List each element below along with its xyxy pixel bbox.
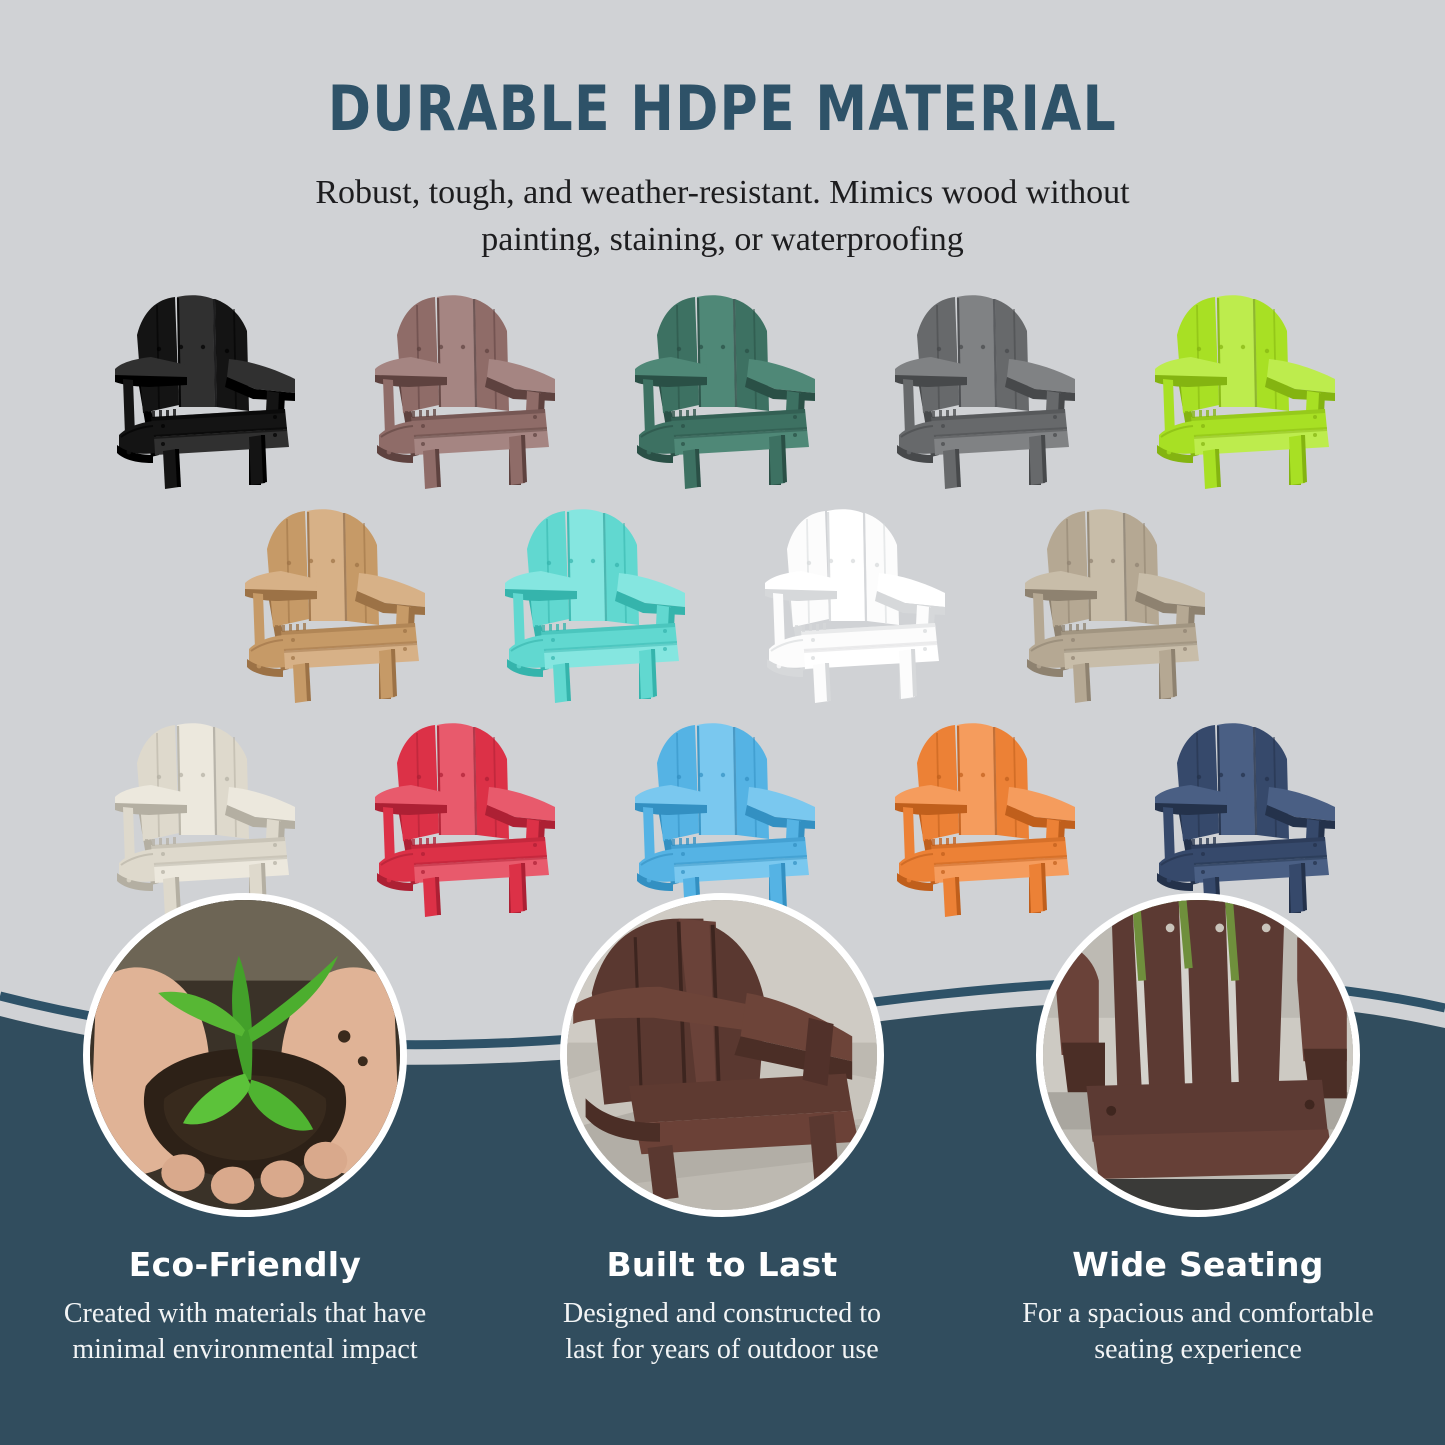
chair-swatch-red[interactable] (345, 696, 580, 918)
chair-illustration-dark-green (619, 285, 827, 490)
feature-section: Eco-Friendly Created with materials that… (0, 893, 1445, 1445)
photo-brown-chair-patio (567, 900, 877, 1210)
chair-row-1 (0, 268, 1445, 490)
chair-illustration-teak (229, 499, 437, 704)
chair-illustration-weathered-wood (1009, 499, 1217, 704)
feature-desc-line-2: minimal environmental impact (72, 1334, 417, 1365)
feature-image-wide-seating (1036, 893, 1360, 1217)
feature-description-wide-seating: For a spacious and comfortable seating e… (978, 1296, 1418, 1369)
chair-swatch-weathered-wood[interactable] (995, 482, 1230, 704)
chair-swatch-black[interactable] (85, 268, 320, 490)
page-subtitle: Robust, tough, and weather-resistant. Mi… (223, 140, 1223, 264)
feature-desc-line-1: Created with materials that have (64, 1298, 426, 1329)
chair-row-2 (0, 482, 1445, 704)
feature-image-eco-friendly (83, 893, 407, 1217)
infographic-canvas: DURABLE HDPE MATERIAL Robust, tough, and… (0, 0, 1445, 1445)
chair-swatch-ivory[interactable] (85, 696, 320, 918)
chair-row-3 (0, 696, 1445, 918)
chair-color-grid (0, 268, 1445, 918)
photo-chair-wide-seat-closeup (1043, 900, 1353, 1210)
feature-description-built-to-last: Designed and constructed to last for yea… (502, 1296, 942, 1369)
chair-illustration-ivory (99, 713, 307, 918)
subtitle-line-2: painting, staining, or waterproofing (481, 221, 964, 258)
chair-swatch-orange[interactable] (865, 696, 1100, 918)
feature-image-built-to-last (560, 893, 884, 1217)
feature-desc-line-2: last for years of outdoor use (565, 1334, 878, 1365)
feature-built-to-last: Built to Last Designed and constructed t… (487, 893, 957, 1369)
chair-illustration-orange (879, 713, 1087, 918)
chair-illustration-gray (879, 285, 1087, 490)
feature-title-eco-friendly: Eco-Friendly (10, 1245, 480, 1284)
chair-illustration-black (99, 285, 307, 490)
chair-illustration-red (359, 713, 567, 918)
chair-illustration-navy-blue (1139, 713, 1347, 918)
chair-swatch-dark-green[interactable] (605, 268, 840, 490)
chair-illustration-white (749, 499, 957, 704)
feature-desc-line-1: For a spacious and comfortable (1022, 1298, 1373, 1329)
feature-wide-seating: Wide Seating For a spacious and comforta… (963, 893, 1433, 1369)
chair-illustration-light-blue (619, 713, 827, 918)
feature-description-eco-friendly: Created with materials that have minimal… (25, 1296, 465, 1369)
feature-title-built-to-last: Built to Last (487, 1245, 957, 1284)
chair-illustration-lime-green (1139, 285, 1347, 490)
feature-desc-line-2: seating experience (1094, 1334, 1302, 1365)
feature-eco-friendly: Eco-Friendly Created with materials that… (10, 893, 480, 1369)
photo-hands-soil-seedling (90, 900, 400, 1210)
subtitle-line-1: Robust, tough, and weather-resistant. Mi… (315, 174, 1129, 211)
header: DURABLE HDPE MATERIAL Robust, tough, and… (0, 0, 1445, 264)
chair-swatch-turquoise[interactable] (475, 482, 710, 704)
chair-swatch-light-blue[interactable] (605, 696, 840, 918)
chair-swatch-gray[interactable] (865, 268, 1100, 490)
chair-swatch-teak[interactable] (215, 482, 450, 704)
chair-swatch-lime-green[interactable] (1125, 268, 1360, 490)
chair-swatch-navy-blue[interactable] (1125, 696, 1360, 918)
feature-desc-line-1: Designed and constructed to (563, 1298, 881, 1329)
chair-illustration-turquoise (489, 499, 697, 704)
chair-swatch-brown[interactable] (345, 268, 580, 490)
page-title: DURABLE HDPE MATERIAL (51, 0, 1395, 140)
chair-illustration-brown (359, 285, 567, 490)
chair-swatch-white[interactable] (735, 482, 970, 704)
feature-title-wide-seating: Wide Seating (963, 1245, 1433, 1284)
